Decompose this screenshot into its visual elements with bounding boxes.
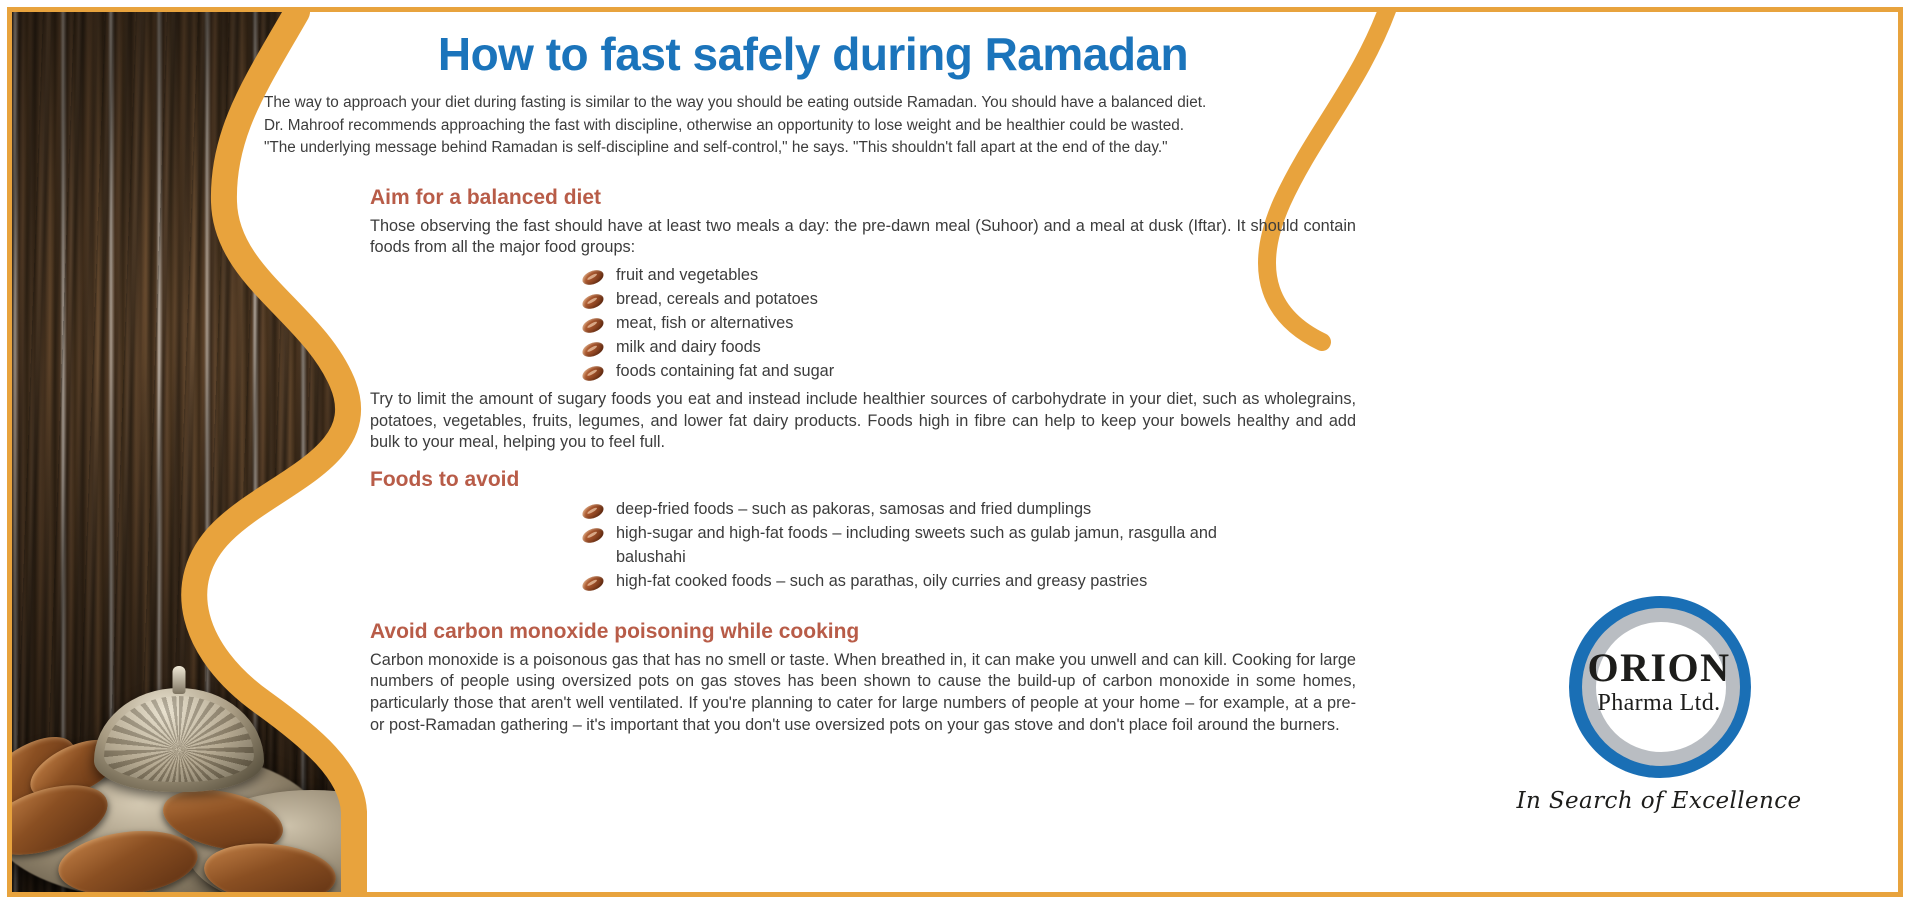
section-heading: Foods to avoid [370,468,1284,492]
section-heading: Avoid carbon monoxide poisoning while co… [370,620,1284,644]
date-fruit-icon [580,339,605,359]
intro-paragraph: The way to approach your diet during fas… [264,92,1262,159]
logo-wordmark: ORION Pharma Ltd. [1544,648,1774,718]
date-fruit-icon [580,267,605,287]
list-item: milk and dairy foods [574,336,1284,360]
list-item-label: deep-fried foods – such as pakoras, samo… [616,500,1091,518]
section-after-text: Carbon monoxide is a poisonous gas that … [370,650,1356,737]
list-item-label: foods containing fat and sugar [616,362,834,380]
list-item: meat, fish or alternatives [574,312,1284,336]
date-fruit-icon [580,573,605,593]
date-fruit-icon [580,291,605,311]
date-fruit-icon [580,501,605,521]
list-item-label: fruit and vegetables [616,266,758,284]
section-foods-to-avoid: Foods to avoid deep-fried foods – such a… [264,468,1284,594]
foods-to-avoid-bullet-list: deep-fried foods – such as pakoras, samo… [574,498,1284,594]
ramadan-infographic-poster: How to fast safely during Ramadan The wa… [0,0,1910,904]
orion-logo-mark: ORION Pharma Ltd. [1544,596,1774,786]
section-balanced-diet: Aim for a balanced diet Those observing … [264,186,1284,454]
list-item-label: high-fat cooked foods – such as parathas… [616,572,1147,590]
poster-content: How to fast safely during Ramadan The wa… [264,30,1284,736]
list-item: high-sugar and high-fat foods – includin… [574,522,1284,570]
section-heading: Aim for a balanced diet [370,186,1284,210]
intro-line-1: The way to approach your diet during fas… [264,92,1262,114]
poster-frame: How to fast safely during Ramadan The wa… [7,7,1903,897]
page-title: How to fast safely during Ramadan [342,30,1284,78]
list-item: foods containing fat and sugar [574,360,1284,384]
section-carbon-monoxide: Avoid carbon monoxide poisoning while co… [264,620,1284,737]
list-item: fruit and vegetables [574,264,1284,288]
list-item-label: milk and dairy foods [616,338,761,356]
balanced-diet-bullet-list: fruit and vegetables bread, cereals and … [574,264,1284,384]
list-item: deep-fried foods – such as pakoras, samo… [574,498,1284,522]
list-item-label: meat, fish or alternatives [616,314,793,332]
list-item-label: bread, cereals and potatoes [616,290,818,308]
intro-line-3: "The underlying message behind Ramadan i… [264,137,1262,159]
logo-company-name: ORION [1544,648,1774,688]
date-fruit-icon [580,525,605,545]
date-fruit-icon [580,315,605,335]
list-item-label: high-sugar and high-fat foods – includin… [616,524,1217,566]
intro-line-2: Dr. Mahroof recommends approaching the f… [264,115,1262,137]
section-lead-text: Those observing the fast should have at … [370,216,1356,259]
section-after-text: Try to limit the amount of sugary foods … [370,389,1356,454]
list-item: bread, cereals and potatoes [574,288,1284,312]
orion-pharma-logo: ORION Pharma Ltd. In Search of Excellenc… [1494,596,1824,814]
list-item: high-fat cooked foods – such as parathas… [574,570,1284,594]
date-fruit-icon [580,363,605,383]
logo-tagline: In Search of Excellence [1494,788,1824,814]
logo-company-subtitle: Pharma Ltd. [1544,688,1774,718]
